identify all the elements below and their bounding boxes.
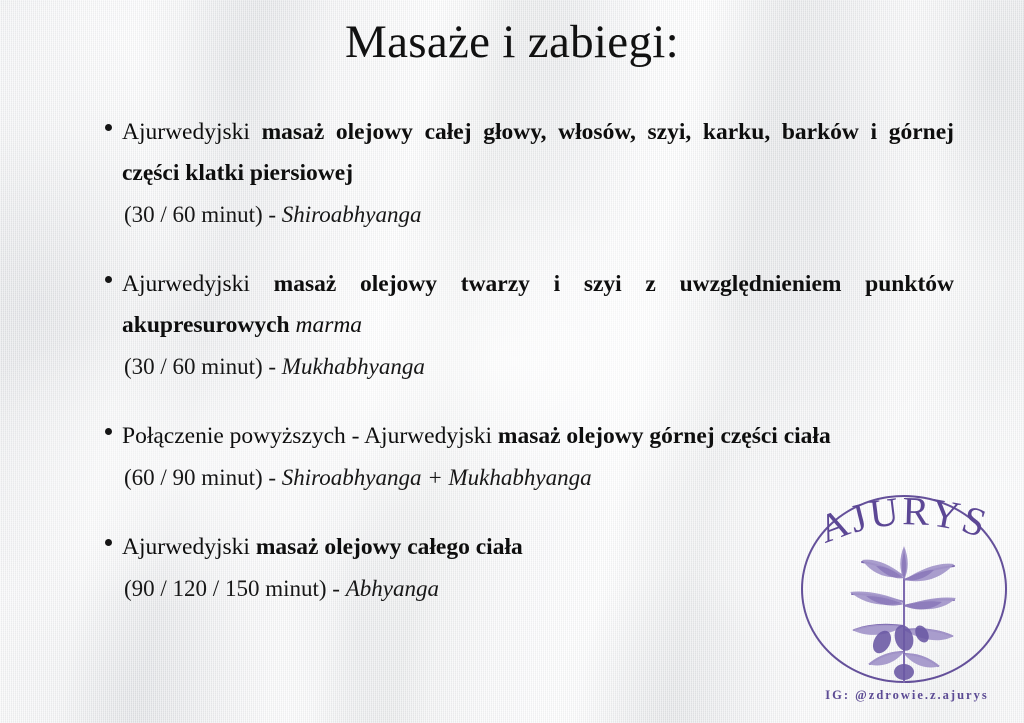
treatment-duration: (90 / 120 / 150 minut) - <box>124 576 346 601</box>
treatment-duration-row: (30 / 60 minut) - Mukhabhyanga <box>122 346 954 387</box>
treatment-description: Ajurwedyjski masaż olejowy twarzy i szyi… <box>122 264 954 346</box>
treatment-lead: Ajurwedyjski <box>122 119 262 145</box>
instagram-handle[interactable]: IG: @zdrowie.z.ajurys <box>798 688 1016 703</box>
brand-logo: AJURYS IG: @zdrowie.z.ajurys <box>798 492 1016 720</box>
bullet-dot-icon <box>105 539 112 546</box>
herb-plant-icon <box>804 514 1004 686</box>
slide-canvas: Masaże i zabiegi: Ajurwedyjski masaż ole… <box>0 0 1024 723</box>
treatment-lead: Ajurwedyjski <box>122 534 256 560</box>
treatment-duration-row: (30 / 60 minut) - Shiroabhyanga <box>122 194 954 235</box>
slide-content: Masaże i zabiegi: Ajurwedyjski masaż ole… <box>0 0 1024 723</box>
bullet-dot-icon <box>105 124 112 131</box>
list-item: Ajurwedyjski masaż olejowy całej głowy, … <box>96 112 954 235</box>
treatment-sanskrit-term: Shiroabhyanga <box>282 202 422 227</box>
treatment-description: Połączenie powyższych - Ajurwedyjski mas… <box>122 416 954 457</box>
page-title: Masaże i zabiegi: <box>0 16 1024 69</box>
treatment-description: Ajurwedyjski masaż olejowy całej głowy, … <box>122 112 954 194</box>
treatment-lead: Połączenie powyższych - Ajurwedyjski <box>122 423 498 449</box>
treatment-sanskrit-term: Abhyanga <box>346 576 439 601</box>
treatment-name: masaż olejowy całego ciała <box>256 534 523 560</box>
bullet-dot-icon <box>105 276 112 283</box>
treatment-sanskrit-term: Mukhabhyanga <box>282 354 425 379</box>
treatment-lead: Ajurwedyjski <box>122 271 274 297</box>
treatment-sanskrit-suffix: + Mukhabhyanga <box>422 465 592 490</box>
treatment-duration: (30 / 60 minut) - <box>124 354 282 379</box>
treatment-duration: (60 / 90 minut) - <box>124 465 282 490</box>
bullet-dot-icon <box>105 428 112 435</box>
treatment-name: masaż olejowy górnej części ciała <box>498 423 831 449</box>
treatment-duration: (30 / 60 minut) - <box>124 202 282 227</box>
list-item: Ajurwedyjski masaż olejowy twarzy i szyi… <box>96 264 954 387</box>
treatment-tail: marma <box>290 312 362 338</box>
list-item: Połączenie powyższych - Ajurwedyjski mas… <box>96 416 954 498</box>
treatment-sanskrit-term: Shiroabhyanga <box>282 465 422 490</box>
